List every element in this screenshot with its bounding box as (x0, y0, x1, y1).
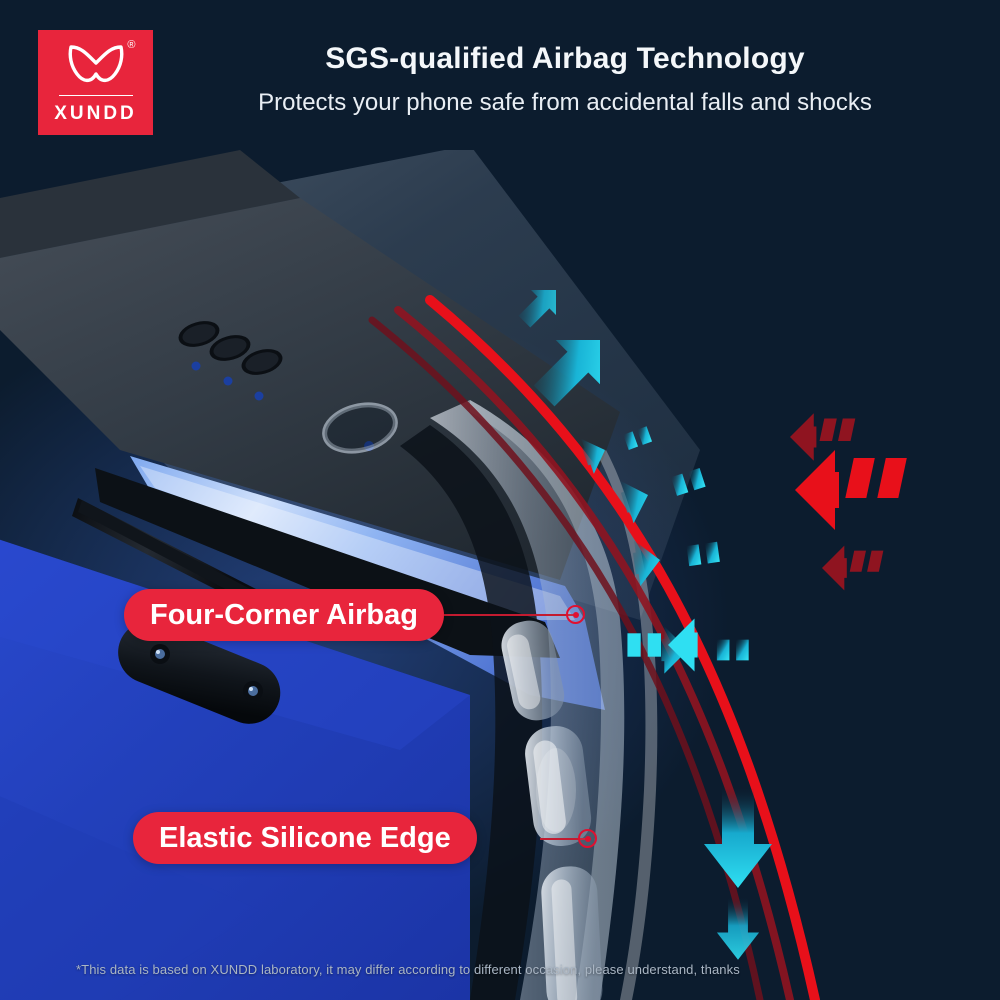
logo-divider (59, 95, 133, 97)
callout-four-corner-airbag: Four-Corner Airbag (124, 589, 444, 641)
callout-label: Four-Corner Airbag (150, 599, 418, 632)
marker-edge (578, 829, 597, 848)
page-subtitle: Protects your phone safe from accidental… (160, 89, 970, 117)
leader-line-airbag (444, 614, 574, 616)
product-marketing-banner: ® XUNDD SGS-qualified Airbag Technology … (0, 0, 1000, 1000)
registered-mark: ® (127, 40, 135, 51)
marker-airbag (566, 605, 585, 624)
xundd-logo: ® XUNDD (38, 30, 153, 135)
page-title: SGS-qualified Airbag Technology (160, 42, 970, 77)
callout-elastic-silicone-edge: Elastic Silicone Edge (133, 812, 477, 864)
headline-block: SGS-qualified Airbag Technology Protects… (160, 42, 970, 116)
elastic-silicone-edge-strip (540, 865, 604, 1000)
callout-label: Elastic Silicone Edge (159, 822, 451, 855)
disclaimer-text: *This data is based on XUNDD laboratory,… (76, 962, 740, 977)
xundd-butterfly-logo-icon: ® (65, 44, 127, 86)
brand-name: XUNDD (54, 103, 137, 125)
product-photo (0, 150, 1000, 1000)
